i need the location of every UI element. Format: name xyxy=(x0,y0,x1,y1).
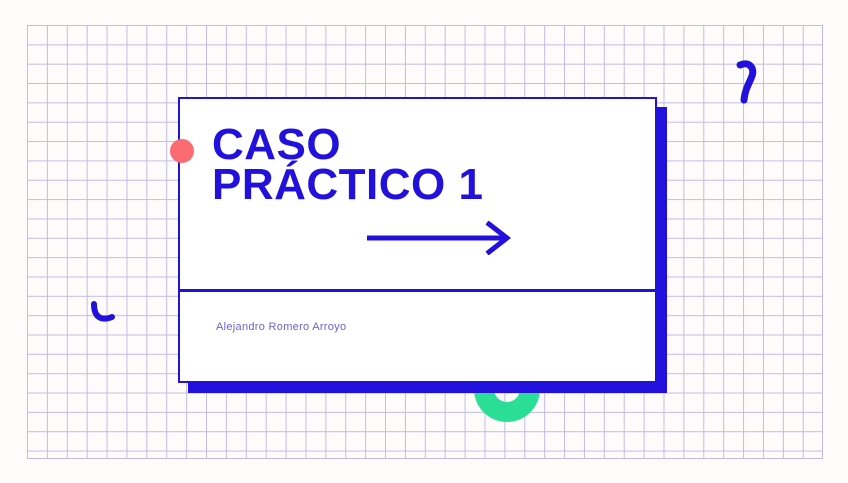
author-name: Alejandro Romero Arroyo xyxy=(216,321,346,333)
right-arrow-icon xyxy=(365,221,515,255)
small-arc-icon xyxy=(88,300,118,326)
comma-squiggle-icon xyxy=(730,58,762,104)
pink-dot-icon xyxy=(170,139,194,163)
page-title: CASO PRÁCTICO 1 xyxy=(212,125,483,205)
card-divider xyxy=(180,289,655,292)
presentation-slide: CASO PRÁCTICO 1 Alejandro Romero Arroyo xyxy=(0,0,848,483)
title-card: CASO PRÁCTICO 1 Alejandro Romero Arroyo xyxy=(178,97,657,383)
